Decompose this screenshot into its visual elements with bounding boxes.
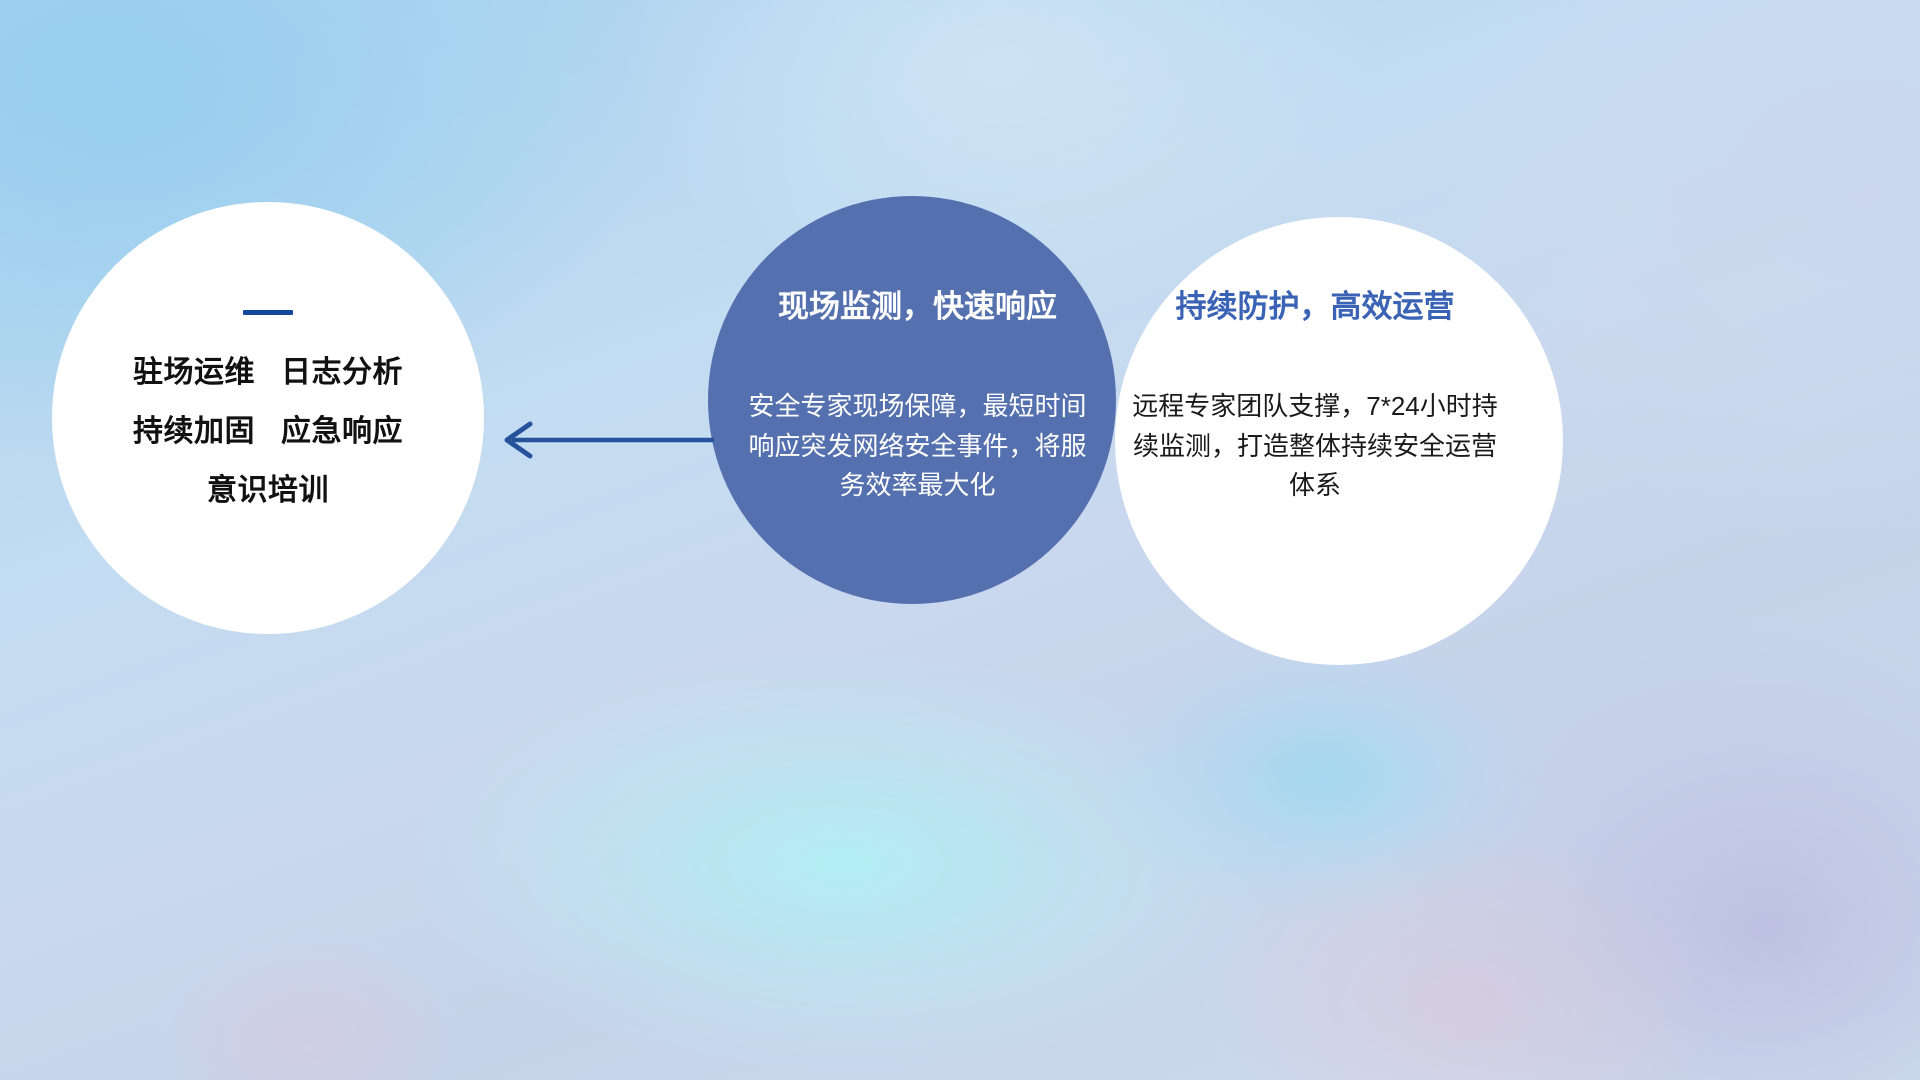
capability-list: 驻场运维日志分析 持续加固应急响应 意识培训 <box>133 358 403 506</box>
capability-row: 持续加固应急响应 <box>133 417 403 447</box>
left-pointing-arrow <box>490 418 715 462</box>
capability-label: 驻场运维 <box>133 356 255 389</box>
capability-label: 日志分析 <box>281 356 403 389</box>
capability-row: 意识培训 <box>207 476 329 506</box>
on-site-monitoring-content: 现场监测，快速响应 安全专家现场保障，最短时间响应突发网络安全事件，将服务效率最… <box>745 288 1090 506</box>
capability-label: 意识培训 <box>207 474 329 507</box>
accent-bar-divider <box>243 310 293 315</box>
on-site-monitoring-heading: 现场监测，快速响应 <box>745 288 1090 325</box>
capability-row: 驻场运维日志分析 <box>133 358 403 388</box>
continuous-protection-heading: 持续防护，高效运营 <box>1125 288 1505 325</box>
capability-label: 应急响应 <box>281 415 403 448</box>
capability-label: 持续加固 <box>133 415 255 448</box>
on-site-operations-circle[interactable]: 驻场运维日志分析 持续加固应急响应 意识培训 <box>52 202 484 634</box>
on-site-monitoring-body: 安全专家现场保障，最短时间响应突发网络安全事件，将服务效率最大化 <box>745 387 1090 506</box>
continuous-protection-body: 远程专家团队支撑，7*24小时持续监测，打造整体持续安全运营体系 <box>1125 387 1505 506</box>
slide-canvas: 驻场运维日志分析 持续加固应急响应 意识培训 持续防护，高效运营 远程专家团队支… <box>0 0 1920 1080</box>
continuous-protection-content: 持续防护，高效运营 远程专家团队支撑，7*24小时持续监测，打造整体持续安全运营… <box>1125 288 1505 506</box>
